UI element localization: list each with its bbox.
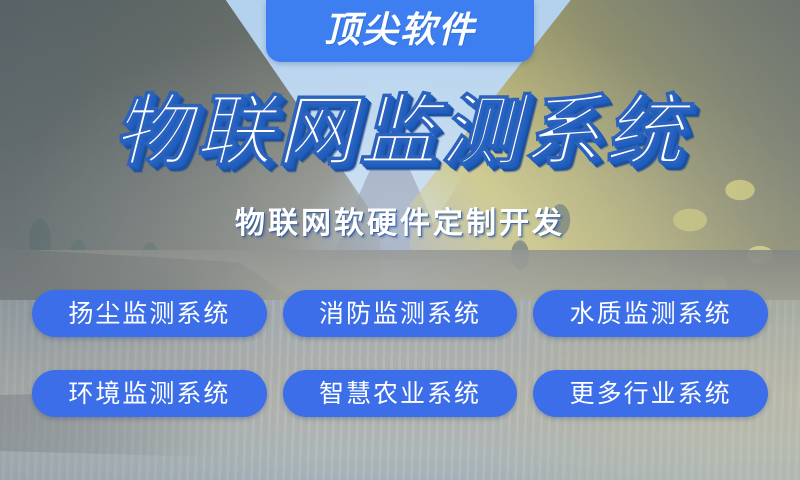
pill-label: 更多行业系统: [570, 381, 732, 406]
brand-badge-label: 顶尖软件: [324, 13, 476, 49]
pill-label: 扬尘监测系统: [68, 301, 230, 326]
pill-smart-agriculture[interactable]: 智慧农业系统: [283, 370, 518, 417]
pill-more-industry-systems[interactable]: 更多行业系统: [533, 370, 768, 417]
pill-environment-monitoring[interactable]: 环境监测系统: [32, 370, 267, 417]
pill-label: 环境监测系统: [68, 381, 230, 406]
pill-fire-monitoring[interactable]: 消防监测系统: [283, 290, 518, 337]
page-subtitle: 物联网软硬件定制开发: [0, 209, 800, 239]
pill-label: 智慧农业系统: [319, 381, 481, 406]
pill-label: 水质监测系统: [570, 301, 732, 326]
brand-badge[interactable]: 顶尖软件: [266, 0, 534, 62]
pill-label: 消防监测系统: [319, 301, 481, 326]
system-pill-grid: 扬尘监测系统 消防监测系统 水质监测系统 环境监测系统 智慧农业系统 更多行业系…: [32, 290, 768, 417]
pill-water-quality-monitoring[interactable]: 水质监测系统: [533, 290, 768, 337]
pill-dust-monitoring[interactable]: 扬尘监测系统: [32, 290, 267, 337]
page-title: 物联网监测系统: [0, 93, 800, 171]
promo-banner: 顶尖软件 物联网监测系统 物联网软硬件定制开发 扬尘监测系统 消防监测系统 水质…: [0, 0, 800, 480]
banner-content: 顶尖软件 物联网监测系统 物联网软硬件定制开发 扬尘监测系统 消防监测系统 水质…: [0, 0, 800, 480]
